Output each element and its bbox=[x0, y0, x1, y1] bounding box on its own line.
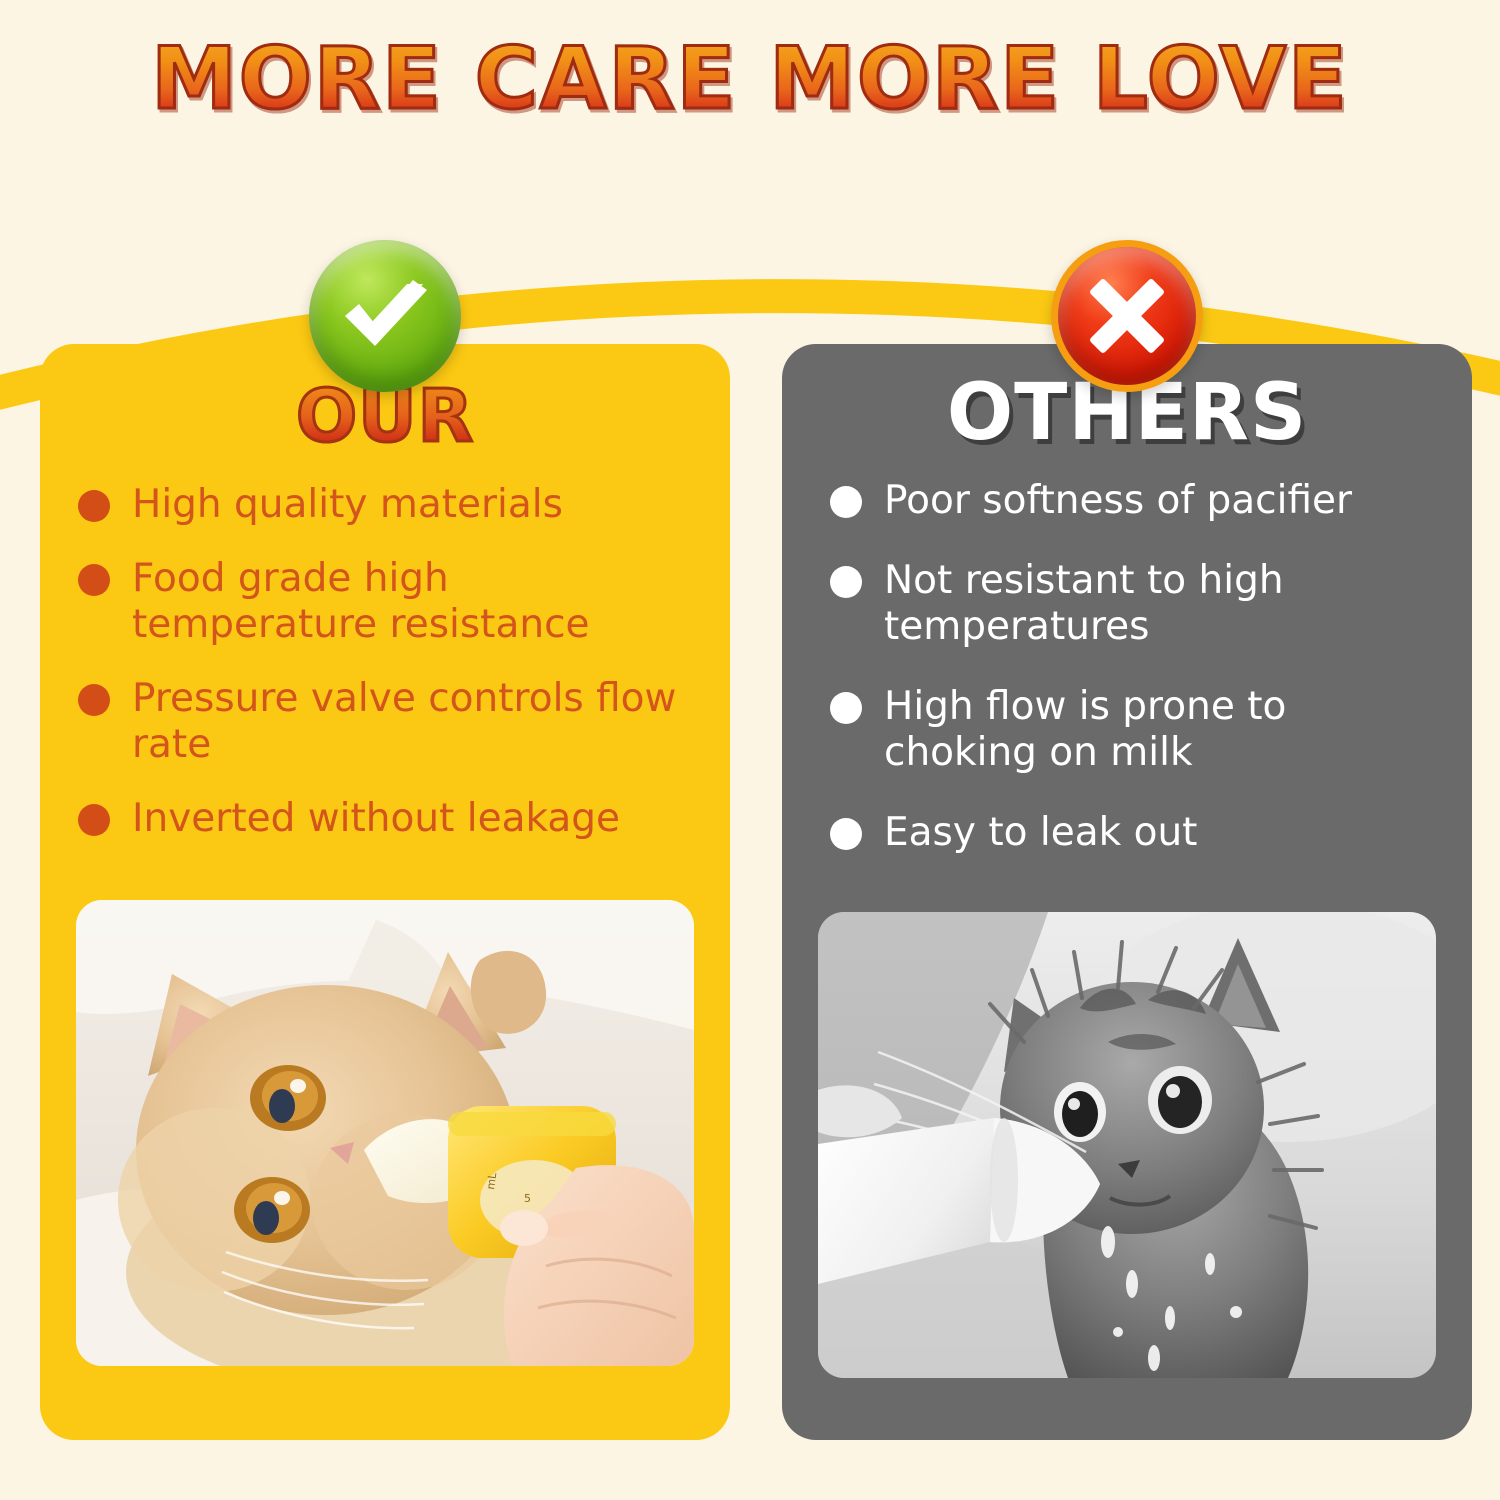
others-panel: OTHERS Poor softness of pacifier Not res… bbox=[782, 344, 1472, 1440]
bullet-label: Easy to leak out bbox=[884, 810, 1197, 856]
cross-mark-icon bbox=[1051, 240, 1203, 392]
check-glyph bbox=[333, 264, 437, 368]
check-path-2 bbox=[345, 280, 427, 346]
our-column: OUR High quality materials Food grade hi… bbox=[40, 240, 730, 1440]
list-item: Inverted without leakage bbox=[78, 796, 700, 842]
svg-text:5: 5 bbox=[524, 1192, 531, 1205]
our-photo-illustration: mL 5 0 3 bbox=[76, 900, 694, 1366]
bullet-dot-icon bbox=[830, 818, 862, 850]
list-item: Pressure valve controls flow rate bbox=[78, 676, 700, 768]
list-item: High quality materials bbox=[78, 482, 700, 528]
bullet-dot-icon bbox=[830, 692, 862, 724]
bullet-label: High flow is prone to choking on milk bbox=[884, 684, 1442, 776]
list-item: Poor softness of pacifier bbox=[830, 478, 1442, 524]
our-product-photo: mL 5 0 3 bbox=[76, 900, 694, 1366]
check-mark-icon bbox=[309, 240, 461, 392]
others-photo-illustration bbox=[818, 912, 1436, 1378]
bullet-dot-icon bbox=[78, 490, 110, 522]
bullet-label: Inverted without leakage bbox=[132, 796, 620, 842]
bullet-label: Poor softness of pacifier bbox=[884, 478, 1352, 524]
bullet-dot-icon bbox=[830, 486, 862, 518]
others-column: OTHERS Poor softness of pacifier Not res… bbox=[782, 240, 1472, 1440]
bullet-label: Pressure valve controls flow rate bbox=[132, 676, 700, 768]
list-item: High flow is prone to choking on milk bbox=[830, 684, 1442, 776]
our-panel: OUR High quality materials Food grade hi… bbox=[40, 344, 730, 1440]
list-item: Easy to leak out bbox=[830, 810, 1442, 856]
bullet-label: High quality materials bbox=[132, 482, 563, 528]
list-item: Not resistant to high temperatures bbox=[830, 558, 1442, 650]
cross-glyph bbox=[1079, 268, 1175, 364]
svg-text:mL: mL bbox=[484, 1171, 499, 1190]
comparison-area: OUR High quality materials Food grade hi… bbox=[0, 240, 1500, 1500]
bullet-dot-icon bbox=[78, 684, 110, 716]
list-item: Food grade high temperature resistance bbox=[78, 556, 700, 648]
our-bullet-list: High quality materials Food grade high t… bbox=[40, 482, 730, 842]
bullet-dot-icon bbox=[78, 804, 110, 836]
bullet-label: Food grade high temperature resistance bbox=[132, 556, 700, 648]
others-bullet-list: Poor softness of pacifier Not resistant … bbox=[782, 478, 1472, 856]
bullet-dot-icon bbox=[830, 566, 862, 598]
bullet-label: Not resistant to high temperatures bbox=[884, 558, 1442, 650]
others-product-photo bbox=[818, 912, 1436, 1378]
page-title: MORE CARE MORE LOVE bbox=[0, 34, 1500, 124]
bullet-dot-icon bbox=[78, 564, 110, 596]
